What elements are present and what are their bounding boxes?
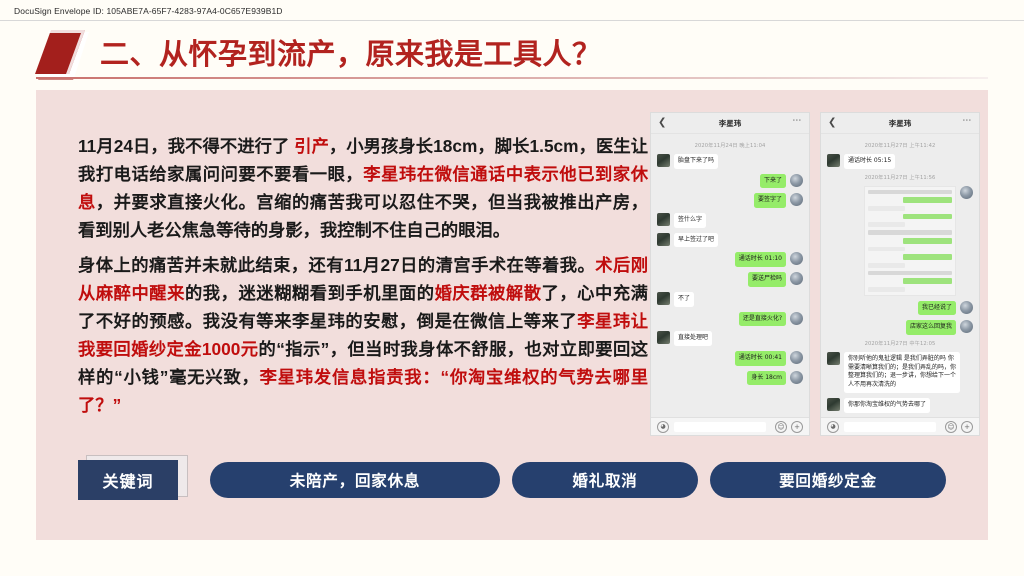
chat-message-row: 通话时长 05:15 [827, 154, 973, 169]
text-run: 11月24日，我不得不进行了 [78, 136, 294, 156]
chat-bubble-outgoing[interactable]: 我已经说了 [918, 301, 956, 316]
avatar[interactable] [657, 213, 670, 226]
chat-message-row: 我已经说了 [827, 301, 973, 316]
chat-bubble-incoming[interactable]: 你那你淘宝维权的气势去哪了 [844, 398, 930, 413]
chat-message-row: 还是直接火化? [657, 312, 803, 327]
paragraph-2: 身体上的痛苦并未就此结束，还有11月27日的清宫手术在等着我。术后刚从麻醉中醒来… [78, 251, 648, 419]
chat-input-bar-2: ◕ ☺ + [821, 417, 979, 435]
chat-header-1: ❮ 李星玮 ⋯ [651, 113, 809, 134]
chat-contact-name: 李星玮 [651, 118, 809, 129]
image-line [868, 263, 905, 268]
image-line [903, 238, 952, 244]
chat-message-row: 不了 [657, 292, 803, 307]
chat-bubble-outgoing[interactable]: 要送尸检吗 [748, 272, 786, 287]
avatar[interactable] [657, 154, 670, 167]
text-run: ，并要求直接火化。宫缩的痛苦我可以忍住不哭，但当我被推出产房，看到别人老公焦急等… [78, 192, 648, 240]
tag-button-0[interactable]: 未陪产，回家休息 [210, 462, 500, 498]
chat-bubble-outgoing[interactable]: 通话时长 01:10 [735, 252, 786, 267]
chat-bubble-incoming[interactable]: 不了 [674, 292, 694, 307]
message-input[interactable] [674, 422, 766, 432]
slide-header: 二、从怀孕到流产，原来我是工具人？ [0, 26, 1024, 84]
chat-bubble-incoming[interactable]: 直接处理吧 [674, 331, 712, 346]
chat-bubble-outgoing[interactable]: 通话时长 00:41 [735, 351, 786, 366]
voice-input-icon[interactable]: ◕ [827, 421, 839, 433]
chat-contact-name: 李星玮 [821, 118, 979, 129]
chat-messages-1: 2020年11月24日 晚上11:04胎盘下来了吗下来了要签字了签什么字早上签过… [651, 134, 809, 417]
image-line [868, 206, 905, 211]
image-line [868, 271, 952, 276]
chat-message-row: 要送尸检吗 [657, 272, 803, 287]
chat-timestamp: 2020年11月24日 晚上11:04 [657, 142, 803, 149]
chat-bubble-image[interactable] [864, 186, 956, 296]
chat-screenshot-1: ❮ 李星玮 ⋯ 2020年11月24日 晚上11:04胎盘下来了吗下来了要签字了… [650, 112, 810, 436]
text-run: 身体上的痛苦并未就此结束，还有11月27日的清宫手术在等着我。 [78, 255, 595, 275]
chat-message-row: 你那你淘宝维权的气势去哪了 [827, 398, 973, 413]
chat-bubble-incoming[interactable]: 通话时长 05:15 [844, 154, 895, 169]
avatar[interactable] [657, 331, 670, 344]
chat-message-row: 要签字了 [657, 193, 803, 208]
title-underline [36, 77, 988, 79]
chat-message-row: 早上签过了吧 [657, 233, 803, 248]
avatar[interactable] [657, 292, 670, 305]
plus-icon[interactable]: + [961, 421, 973, 433]
highlighted-text-run: 婚庆群被解散 [435, 283, 542, 303]
chevron-left-icon[interactable]: ❮ [828, 117, 836, 129]
avatar[interactable] [827, 154, 840, 167]
avatar[interactable] [790, 371, 803, 384]
chat-message-row: 你别听他的鬼扯逻辑 是我们弄脏的吗 你需要清晰算我们的；是我们弄乱的吗，你整理算… [827, 352, 973, 393]
image-line [868, 190, 952, 195]
chat-message-row: 直接处理吧 [657, 331, 803, 346]
chat-screenshots: ❮ 李星玮 ⋯ 2020年11月24日 晚上11:04胎盘下来了吗下来了要签字了… [650, 112, 980, 436]
message-input[interactable] [844, 422, 936, 432]
avatar[interactable] [790, 193, 803, 206]
chat-bubble-outgoing[interactable]: 要签字了 [754, 193, 786, 208]
keyword-label-group: 关键词 [78, 460, 188, 502]
avatar[interactable] [960, 320, 973, 333]
avatar[interactable] [790, 312, 803, 325]
chat-screenshot-2: ❮ 李星玮 ⋯ 2020年11月27日 上午11:42通话时长 05:15202… [820, 112, 980, 436]
chat-message-row: 通话时长 00:41 [657, 351, 803, 366]
image-line [868, 287, 905, 292]
image-line [903, 254, 952, 260]
emoji-icon[interactable]: ☺ [775, 421, 787, 433]
highlighted-text-run: 引产 [294, 136, 329, 156]
chat-message-row: 下来了 [657, 174, 803, 189]
chat-bubble-incoming[interactable]: 签什么字 [674, 213, 706, 228]
avatar[interactable] [657, 233, 670, 246]
more-horizontal-icon[interactable]: ⋯ [792, 116, 802, 126]
paragraph-1: 11月24日，我不得不进行了 引产，小男孩身长18cm，脚长1.5cm，医生让我… [78, 132, 648, 244]
avatar[interactable] [790, 174, 803, 187]
chat-timestamp: 2020年11月27日 上午11:42 [827, 142, 973, 149]
avatar[interactable] [960, 301, 973, 314]
chat-message-row: 店家这么回复我 [827, 320, 973, 335]
image-line [868, 230, 952, 235]
voice-input-icon[interactable]: ◕ [657, 421, 669, 433]
more-horizontal-icon[interactable]: ⋯ [962, 116, 972, 126]
keyword-button[interactable]: 关键词 [78, 460, 178, 500]
image-line [868, 247, 905, 252]
avatar[interactable] [790, 351, 803, 364]
chat-message-row: 胎盘下来了吗 [657, 154, 803, 169]
chat-timestamp: 2020年11月27日 中午12:05 [827, 340, 973, 347]
chat-input-bar-1: ◕ ☺ + [651, 417, 809, 435]
image-line [868, 222, 905, 227]
chat-bubble-incoming[interactable]: 早上签过了吧 [674, 233, 718, 248]
book-icon [33, 28, 95, 82]
avatar[interactable] [827, 398, 840, 411]
avatar[interactable] [827, 352, 840, 365]
plus-icon[interactable]: + [791, 421, 803, 433]
page-title: 二、从怀孕到流产，原来我是工具人？ [100, 31, 602, 73]
keyword-tag-row: 关键词 未陪产，回家休息 婚礼取消 要回婚纱定金 [36, 460, 988, 506]
image-line [903, 197, 952, 203]
chat-header-2: ❮ 李星玮 ⋯ [821, 113, 979, 134]
chat-message-row: 签什么字 [657, 213, 803, 228]
avatar[interactable] [790, 252, 803, 265]
chat-bubble-incoming[interactable]: 你别听他的鬼扯逻辑 是我们弄脏的吗 你需要清晰算我们的；是我们弄乱的吗，你整理算… [844, 352, 960, 393]
image-line [903, 278, 952, 284]
emoji-icon[interactable]: ☺ [945, 421, 957, 433]
avatar[interactable] [960, 186, 973, 199]
avatar[interactable] [790, 272, 803, 285]
chat-message-row [827, 186, 973, 296]
chevron-left-icon[interactable]: ❮ [658, 117, 666, 129]
chat-message-row: 通话时长 01:10 [657, 252, 803, 267]
content-card: 11月24日，我不得不进行了 引产，小男孩身长18cm，脚长1.5cm，医生让我… [36, 90, 988, 540]
chat-bubble-outgoing[interactable]: 还是直接火化? [739, 312, 786, 327]
chat-bubble-outgoing[interactable]: 身长 18cm [747, 371, 786, 386]
image-line [903, 214, 952, 220]
story-text: 11月24日，我不得不进行了 引产，小男孩身长18cm，脚长1.5cm，医生让我… [78, 132, 648, 426]
tag-button-1[interactable]: 婚礼取消 [512, 462, 698, 498]
text-run: 的我，迷迷糊糊看到手机里面的 [185, 283, 435, 303]
docusign-divider [0, 20, 1024, 21]
chat-bubble-incoming[interactable]: 胎盘下来了吗 [674, 154, 718, 169]
chat-bubble-outgoing[interactable]: 下来了 [760, 174, 786, 189]
chat-messages-2: 2020年11月27日 上午11:42通话时长 05:152020年11月27日… [821, 134, 979, 417]
tag-button-2[interactable]: 要回婚纱定金 [710, 462, 946, 498]
chat-timestamp: 2020年11月27日 上午11:56 [827, 174, 973, 181]
chat-message-row: 身长 18cm [657, 371, 803, 386]
docusign-envelope-id: DocuSign Envelope ID: 105ABE7A-65F7-4283… [14, 6, 283, 16]
chat-bubble-outgoing[interactable]: 店家这么回复我 [906, 320, 956, 335]
